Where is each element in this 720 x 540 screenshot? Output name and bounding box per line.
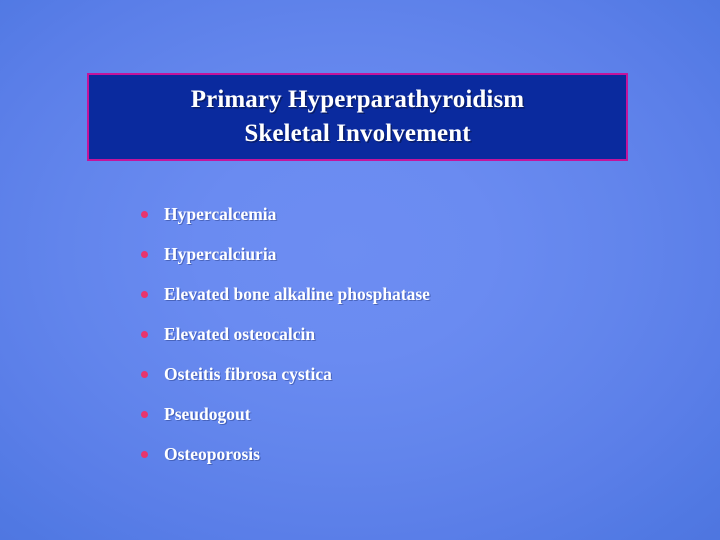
list-item-label: Hypercalcemia <box>164 203 276 225</box>
bullet-dot-icon <box>136 411 164 418</box>
list-item: Hypercalciuria <box>136 234 676 274</box>
list-item: Elevated bone alkaline phosphatase <box>136 274 676 314</box>
list-item-label: Pseudogout <box>164 403 251 425</box>
bullet-dot-icon <box>136 251 164 258</box>
slide-title-line-1: Primary Hyperparathyroidism <box>191 83 524 117</box>
bullet-dot-icon <box>136 451 164 458</box>
bullet-dot-icon <box>136 371 164 378</box>
list-item-label: Hypercalciuria <box>164 243 276 265</box>
list-item: Hypercalcemia <box>136 194 676 234</box>
slide-title-box: Primary Hyperparathyroidism Skeletal Inv… <box>87 73 628 161</box>
list-item-label: Osteitis fibrosa cystica <box>164 363 332 385</box>
slide-bullet-list: Hypercalcemia Hypercalciuria Elevated bo… <box>136 194 676 474</box>
list-item-label: Elevated osteocalcin <box>164 323 315 345</box>
presentation-slide: Primary Hyperparathyroidism Skeletal Inv… <box>0 0 720 540</box>
list-item: Osteitis fibrosa cystica <box>136 354 676 394</box>
bullet-dot-icon <box>136 211 164 218</box>
list-item-label: Elevated bone alkaline phosphatase <box>164 283 430 305</box>
bullet-dot-icon <box>136 291 164 298</box>
list-item: Pseudogout <box>136 394 676 434</box>
slide-title-line-2: Skeletal Involvement <box>244 117 470 151</box>
list-item-label: Osteoporosis <box>164 443 260 465</box>
list-item: Elevated osteocalcin <box>136 314 676 354</box>
list-item: Osteoporosis <box>136 434 676 474</box>
bullet-dot-icon <box>136 331 164 338</box>
